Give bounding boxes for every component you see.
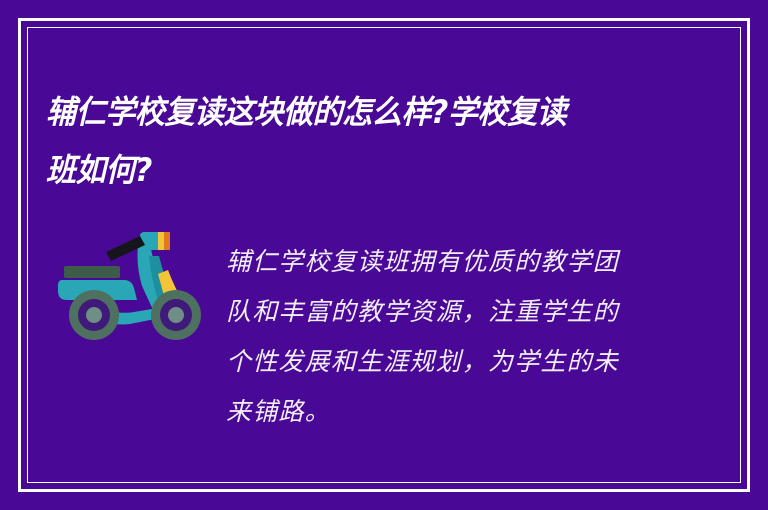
article-body: 辅仁学校复读班拥有优质的教学团队和丰富的教学资源，注重学生的个性发展和生涯规划，…: [226, 237, 642, 437]
scooter-rack: [64, 266, 120, 278]
poster-card: 辅仁学校复读这块做的怎么样?学校复读班如何?: [0, 0, 768, 510]
scooter-illustration: [58, 214, 210, 342]
page-title: 辅仁学校复读这块做的怎么样?学校复读班如何?: [46, 83, 572, 199]
